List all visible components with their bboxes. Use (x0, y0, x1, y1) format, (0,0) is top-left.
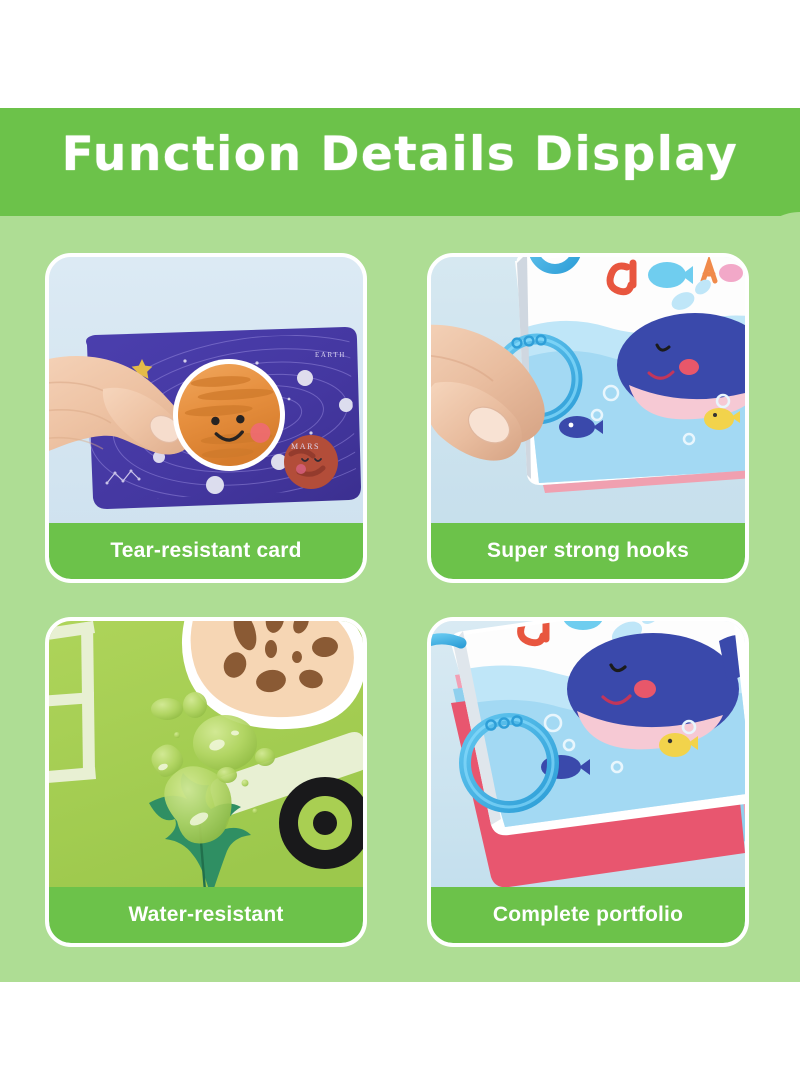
window-graphic (49, 621, 101, 785)
caption-label: Super strong hooks (487, 539, 689, 563)
caption-bar: Super strong hooks (431, 523, 745, 579)
infographic-page: Function Details Display (0, 0, 800, 1091)
caption-label: Complete portfolio (493, 903, 683, 927)
feature-grid: EARTH jupiter he secrets niverse. mercur… (0, 0, 800, 1091)
photo-strong-hooks (431, 257, 745, 535)
feature-panel-water-resistant[interactable]: Water-resistant (45, 617, 367, 947)
svg-text:MARS: MARS (291, 442, 320, 451)
photo-water-resistant (49, 621, 363, 899)
caption-bar: Tear-resistant card (49, 523, 363, 579)
caption-bar: Complete portfolio (431, 887, 745, 943)
feature-panel-complete-portfolio[interactable]: Complete portfolio (427, 617, 749, 947)
photo-tear-resistant: EARTH jupiter he secrets niverse. mercur… (49, 257, 363, 535)
photo-complete-portfolio (431, 621, 745, 899)
whale-card (515, 257, 745, 493)
caption-label: Tear-resistant card (110, 539, 301, 563)
feature-panel-tear-resistant[interactable]: EARTH jupiter he secrets niverse. mercur… (45, 253, 367, 583)
feature-panel-strong-hooks[interactable]: Super strong hooks (427, 253, 749, 583)
caption-bar: Water-resistant (49, 887, 363, 943)
caption-label: Water-resistant (128, 903, 283, 927)
svg-text:EARTH: EARTH (315, 351, 346, 359)
